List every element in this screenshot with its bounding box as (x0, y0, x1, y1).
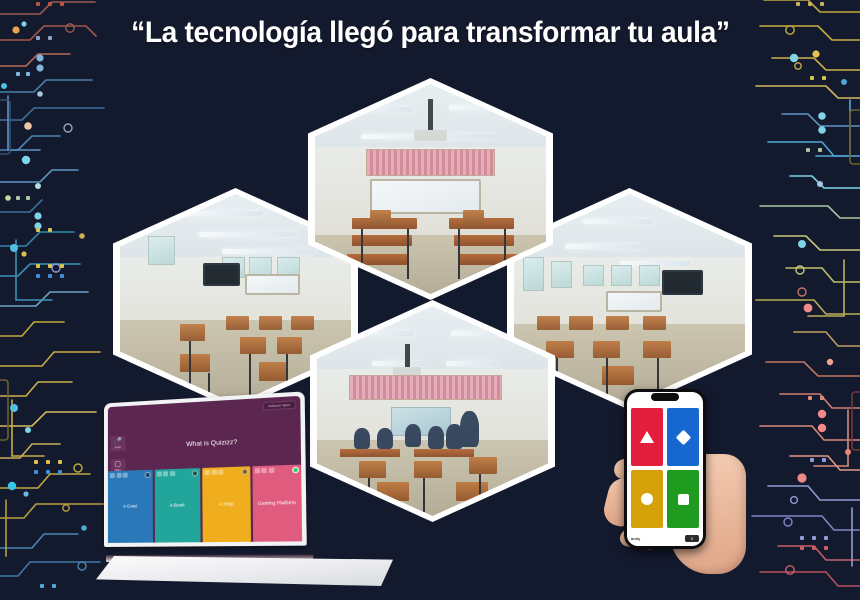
sidebar-tool-audio-label: Audio (114, 446, 121, 449)
laptop-device: Kahoot! Quiz 🎤 Audio ▢ Video (96, 402, 396, 592)
answer-card-label: A Ship (219, 501, 233, 507)
quiz-answer-cards: A Goat A Book A Ship (108, 465, 302, 543)
page-title: “La tecnología llegó para transformar tu… (131, 16, 730, 50)
square-icon (678, 494, 689, 505)
laptop-lid: Kahoot! Quiz 🎤 Audio ▢ Video (104, 391, 307, 547)
classroom-scene-whiteboard (315, 84, 546, 294)
player-score-badge: 0 (685, 535, 699, 542)
poster-title-bar: “La tecnología llegó para transformar tu… (0, 16, 860, 50)
quiz-answer-card[interactable]: A Book (154, 468, 200, 543)
answer-card-label: A Book (170, 503, 185, 509)
player-nickname: andy (631, 536, 640, 541)
phone-footer-bar: andy 0 (627, 530, 703, 546)
answer-button-diamond[interactable] (667, 408, 699, 466)
answer-card-label: Gaming Platform (258, 500, 296, 507)
sidebar-tool-audio[interactable]: 🎤 Audio (110, 436, 125, 452)
quiz-app-screen[interactable]: Kahoot! Quiz 🎤 Audio ▢ Video (108, 396, 302, 543)
video-icon: ▢ (114, 461, 121, 468)
phone-dynamic-island (651, 393, 679, 401)
answer-card-toggle[interactable] (241, 468, 248, 474)
answer-card-label: A Goat (123, 504, 137, 510)
poster-canvas: “La tecnología llegó para transformar tu… (0, 0, 860, 600)
smartphone-device: andy 0 (624, 389, 706, 549)
circuit-board-pattern-right (745, 0, 860, 600)
answer-card-toolbar-icons (204, 469, 223, 475)
phone-in-hand: andy 0 (598, 389, 748, 574)
triangle-icon (640, 431, 654, 443)
answer-card-correct-toggle[interactable] (292, 467, 299, 474)
answer-button-circle[interactable] (631, 470, 663, 528)
microphone-icon: 🎤 (113, 438, 122, 445)
laptop-keyboard-deck (96, 556, 396, 586)
answer-card-toggle[interactable] (144, 472, 150, 478)
quiz-brand-badge[interactable]: Kahoot! Quiz (263, 400, 296, 410)
answer-button-triangle[interactable] (631, 408, 663, 466)
quiz-question-text: What is Quizizz? (186, 439, 237, 448)
answer-card-toolbar-icons (254, 468, 274, 474)
circle-icon (641, 493, 653, 505)
phone-answer-grid (631, 408, 699, 528)
answer-button-square[interactable] (667, 470, 699, 528)
phone-screen[interactable]: andy 0 (627, 392, 703, 546)
diamond-icon (675, 429, 691, 445)
laptop-base (96, 552, 396, 592)
quiz-answer-card[interactable]: Gaming Platform (252, 465, 302, 542)
answer-card-toolbar-icons (110, 473, 128, 479)
hex-photo-top-image (315, 84, 546, 294)
answer-card-toggle[interactable] (192, 470, 198, 476)
answer-card-toolbar-icons (156, 471, 174, 477)
quiz-answer-card[interactable]: A Ship (202, 466, 250, 542)
quiz-answer-card[interactable]: A Goat (108, 470, 153, 543)
